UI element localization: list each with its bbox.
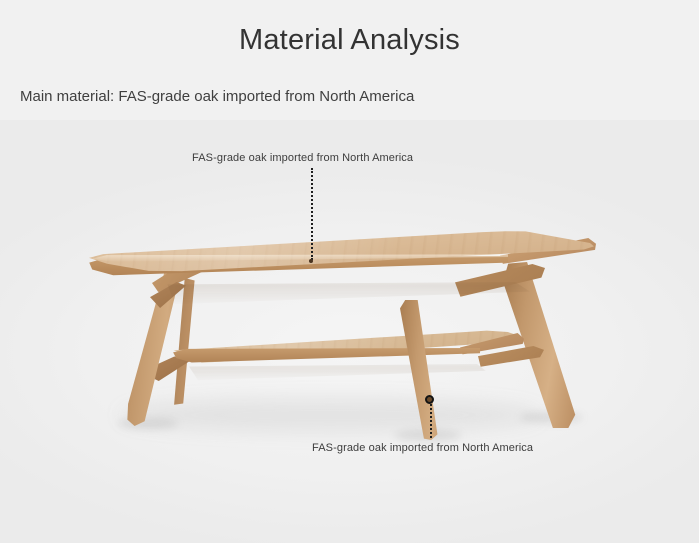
annotation-label-bottom: FAS-grade oak imported from North Americ…: [312, 442, 533, 454]
oak-coffee-table-photo: [0, 0, 699, 543]
product-annotation-image: Material Analysis Main material: FAS-gra…: [0, 0, 699, 543]
main-material-subtitle: Main material: FAS-grade oak imported fr…: [20, 88, 414, 105]
front-left-leg-shadow: [118, 418, 178, 429]
annotation-leader-line-top: [311, 168, 313, 260]
tabletop-underside-shading: [160, 282, 530, 306]
annotation-leader-line-bottom: [430, 404, 432, 438]
annotation-label-top: FAS-grade oak imported from North Americ…: [192, 152, 413, 164]
annotation-point-marker-bottom: [425, 395, 434, 404]
annotation-point-marker-top: [309, 259, 313, 263]
page-title: Material Analysis: [0, 24, 699, 57]
lower-shelf-shading: [186, 364, 486, 382]
